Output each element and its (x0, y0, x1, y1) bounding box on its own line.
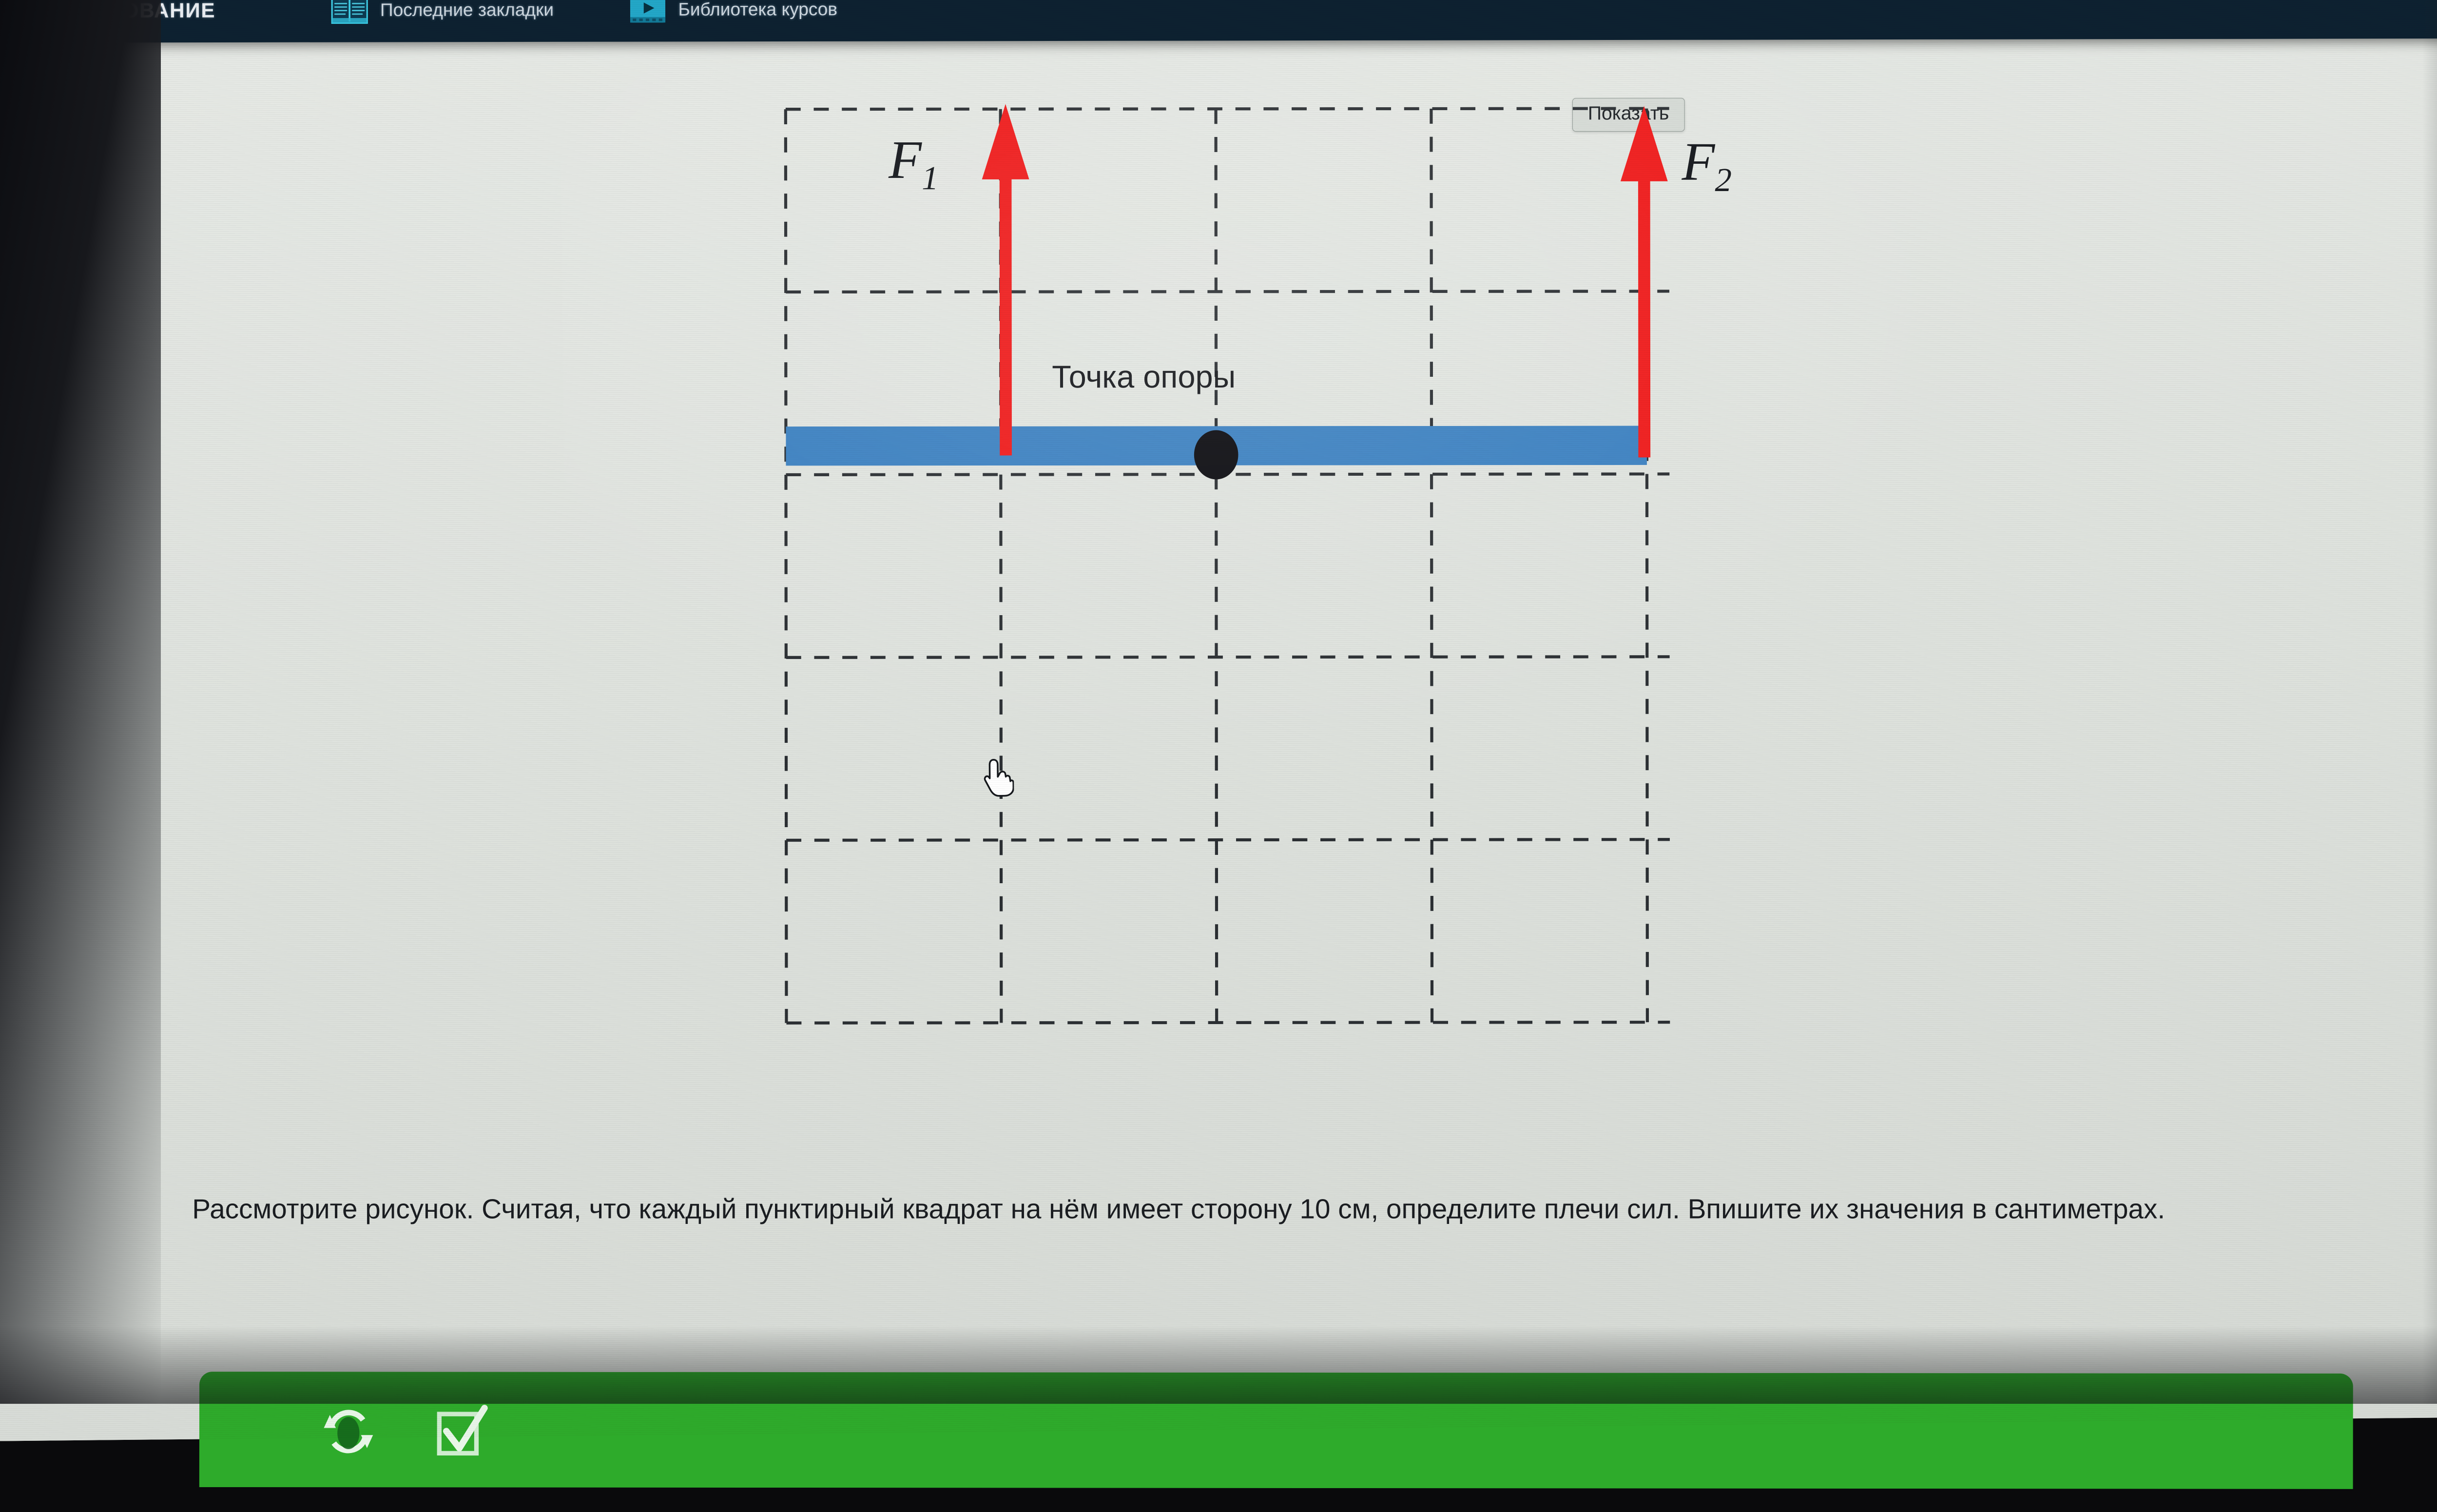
fulcrum-label: Точка опоры (1052, 359, 1236, 395)
pointer-hand-cursor (983, 757, 1014, 797)
monitor-screen: ОБРАЗОВАНИЕ Последние закладки (0, 0, 2437, 1441)
force-arrow-f2-icon (1619, 106, 1670, 457)
brand-block[interactable]: ОБРАЗОВАНИЕ (0, 0, 215, 27)
nav-item-course-library[interactable]: Библиотека курсов (629, 0, 838, 24)
top-navigation-bar: ОБРАЗОВАНИЕ Последние закладки (0, 0, 2437, 43)
force-label-f1-symbol: F (889, 130, 922, 190)
open-book-icon (331, 0, 368, 25)
lever-diagram: Точка опоры F1 F2 (786, 109, 1670, 1043)
question-text: Рассмотрите рисунок. Считая, что каждый … (192, 1188, 2301, 1230)
force-label-f2-subscript: 2 (1715, 161, 1732, 198)
dashed-grid (786, 109, 1670, 1043)
force-label-f1: F1 (889, 129, 939, 198)
check-box-icon[interactable] (432, 1402, 492, 1461)
force-label-f2-symbol: F (1682, 132, 1715, 192)
nav-item-recent-bookmarks[interactable]: Последние закладки (331, 0, 554, 25)
video-library-icon (629, 0, 666, 24)
nav-item-label: Последние закладки (380, 0, 554, 20)
action-bar (199, 1372, 2353, 1489)
fulcrum-point (1194, 430, 1238, 480)
brand-name: ОБРАЗОВАНИЕ (48, 0, 215, 22)
force-label-f2: F2 (1682, 131, 1732, 200)
refresh-icon[interactable] (319, 1402, 378, 1461)
force-label-f1-subscript: 1 (922, 159, 939, 196)
force-arrow-f1-icon (980, 104, 1031, 455)
nav-item-label: Библиотека курсов (678, 0, 837, 20)
chevron-logo-icon (0, 0, 35, 27)
